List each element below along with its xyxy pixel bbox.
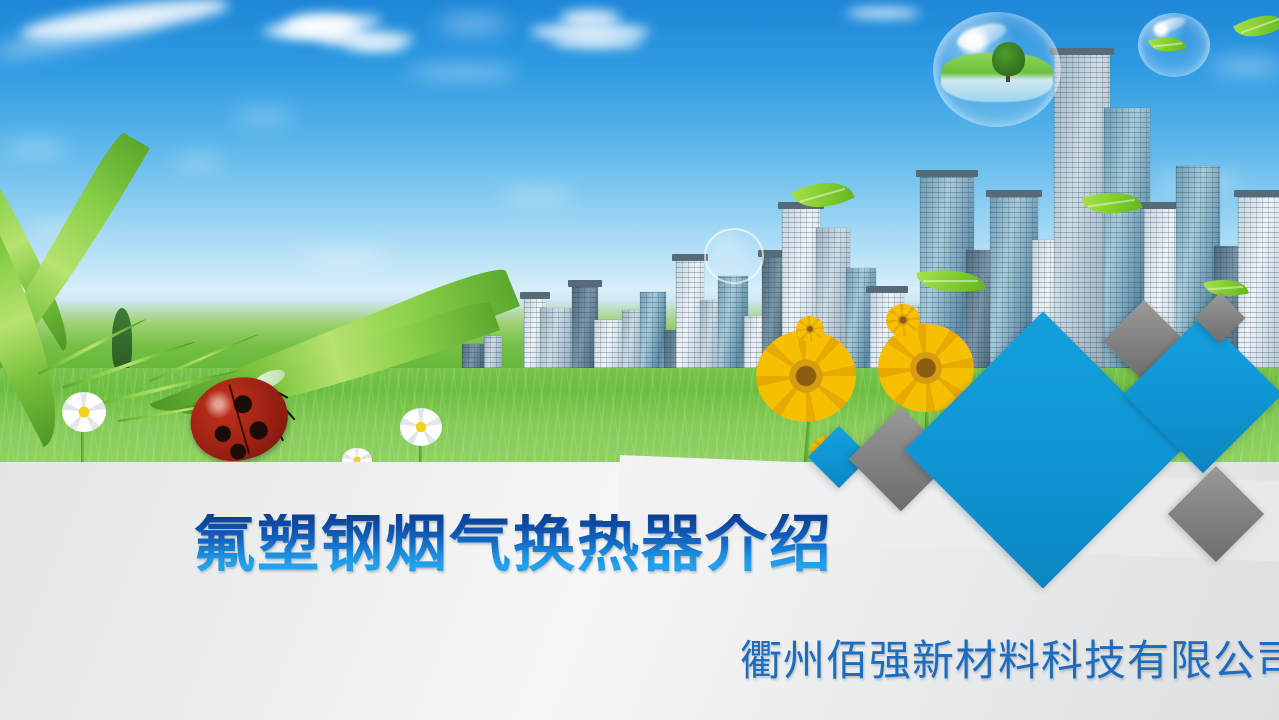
bubble-outline-icon xyxy=(704,228,764,284)
slide-title: 氟塑钢烟气换热器介绍 xyxy=(193,514,833,576)
yellow-flower-bud xyxy=(796,316,824,342)
yellow-flower xyxy=(756,330,856,422)
soap-bubble-with-leaf xyxy=(1138,13,1210,77)
city-skyline xyxy=(0,0,1279,378)
white-flower xyxy=(400,408,442,446)
building xyxy=(640,292,666,378)
soap-bubble-with-tree xyxy=(933,12,1061,127)
building xyxy=(1054,54,1110,378)
yellow-flower-bud xyxy=(886,304,920,336)
company-name: 衢州佰强新材料科技有限公司 xyxy=(740,640,1279,682)
presentation-slide: 氟塑钢烟气换热器介绍 衢州佰强新材料科技有限公司 xyxy=(0,0,1279,720)
white-flower xyxy=(62,392,106,432)
